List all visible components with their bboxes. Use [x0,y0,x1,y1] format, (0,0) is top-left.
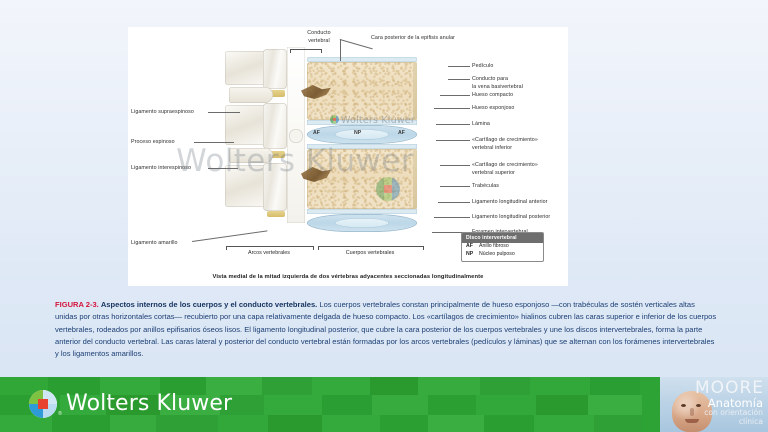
leader-cartilago-inferior [436,140,470,141]
label-cuerpos-vertebrales: Cuerpos vertebrales [318,250,422,256]
figure-panel: AF NP AF Ligamento supraespinoso Proceso… [128,27,568,286]
leader-hueso-compacto [440,95,470,96]
leader-trabeculas [440,186,470,187]
interspinous-ligament-region-lower [229,148,273,163]
footer-bar: ® Wolters Kluwer MOORE Anatomía con orie… [0,377,768,432]
interspinous-ligament-region [229,87,273,103]
label-ligamento-longitudinal-anterior: Ligamento longitudinal anterior [472,199,602,207]
label-pediculo: Pedículo [472,63,582,71]
label-trabeculas: Trabéculas [472,183,582,191]
legend-text-af: Anillo fibroso [479,243,509,251]
legend-title: Disco intervertebral [462,233,543,243]
nucleus-pulposus-lower [335,218,389,228]
label-proceso-espinoso: Proceso espinoso [131,139,209,147]
wolters-kluwer-logo-icon [29,390,57,418]
lamina-middle [263,103,287,149]
disc-mark-af-right: AF [398,130,405,136]
intervertebral-foramen [289,129,303,143]
legend-abbr-np: NP [466,251,475,259]
lamina-upper [263,49,287,89]
figure-caption: FIGURA 2-3. Aspectos internos de los cue… [55,299,717,360]
leader-cara-posterior-vert [340,39,341,61]
leader-lig-long-posterior [434,217,470,218]
nucleus-pulposus-upper [335,129,389,140]
label-conducto-vena-basivertebral: Conducto para la vena basivertebral [472,76,582,91]
wolters-kluwer-registered-mark: ® [58,411,62,417]
label-ligamento-amarillo: Ligamento amarillo [131,240,209,248]
watermark-logo-small-icon [330,115,339,124]
moore-book-badge: MOORE Anatomía con orientación clínica [660,377,768,432]
label-ligamento-longitudinal-posterior: Ligamento longitudinal posterior [472,214,602,222]
wolters-kluwer-wordmark: Wolters Kluwer [66,391,232,416]
leader-vena-basivertebral [448,79,470,80]
lamina-lowest [263,163,287,211]
brace-conducto-vertebral [290,49,322,53]
leader-ligamento-interespinoso [208,168,238,169]
label-arcos-vertebrales: Arcos vertebrales [226,250,312,256]
moore-subtitle-clinica: clínica [739,417,763,426]
leader-lig-long-anterior [438,202,470,203]
disc-legend-box: Disco intervertebral AF Anillo fibroso N… [461,232,544,262]
leader-proceso-espinoso [194,142,234,143]
label-cara-posterior-epifisis: Cara posterior de la epifisis anular [371,35,501,43]
leader-lamina [436,124,470,125]
vertebrae-illustration: AF NP AF [223,45,463,260]
legend-abbr-af: AF [466,243,475,251]
label-hueso-esponjoso: Hueso esponjoso [472,105,582,113]
figure-illustration-area: AF NP AF Ligamento supraespinoso Proceso… [128,27,568,286]
caption-title: Aspectos internos de los cuerpos y el co… [101,300,317,309]
label-conducto-vertebral: Conducto vertebral [294,30,344,45]
label-ligamento-supraespinoso: Ligamento supraespinoso [131,109,209,117]
caption-figure-number: FIGURA 2-3. [55,300,99,309]
disc-mark-np: NP [354,130,361,136]
leader-pediculo [448,66,470,67]
moore-subtitle-orientacion: con orientación [704,408,763,417]
leader-ligamento-supraespinoso [208,112,240,113]
vertebral-body-lower [307,149,417,209]
watermark-logo-large-icon [376,177,400,201]
legend-row-np: NP Núcleo pulposo [462,251,543,261]
legend-text-np: Núcleo pulposo [479,251,515,259]
figure-subtitle: Vista medial de la mitad izquierda de do… [128,274,568,280]
moore-title: MOORE [695,378,764,398]
leader-cartilago-superior [440,165,470,166]
compact-bone-lower [413,149,417,209]
label-cartilago-crecimiento-inferior: «Cartílago de crecimiento» vertebral inf… [472,137,592,152]
ligamentum-flavum-bottom [267,211,285,217]
label-cartilago-crecimiento-superior: «Cartílago de crecimiento» vertebral sup… [472,162,592,177]
disc-mark-af-left: AF [313,130,320,136]
label-hueso-compacto: Hueso compacto [472,92,582,100]
leader-hueso-esponjoso [434,108,470,109]
label-lamina: Lámina [472,121,582,129]
label-ligamento-interespinoso: Ligamento interespinoso [131,165,213,173]
legend-row-af: AF Anillo fibroso [462,243,543,251]
compact-bone-upper [413,62,417,120]
